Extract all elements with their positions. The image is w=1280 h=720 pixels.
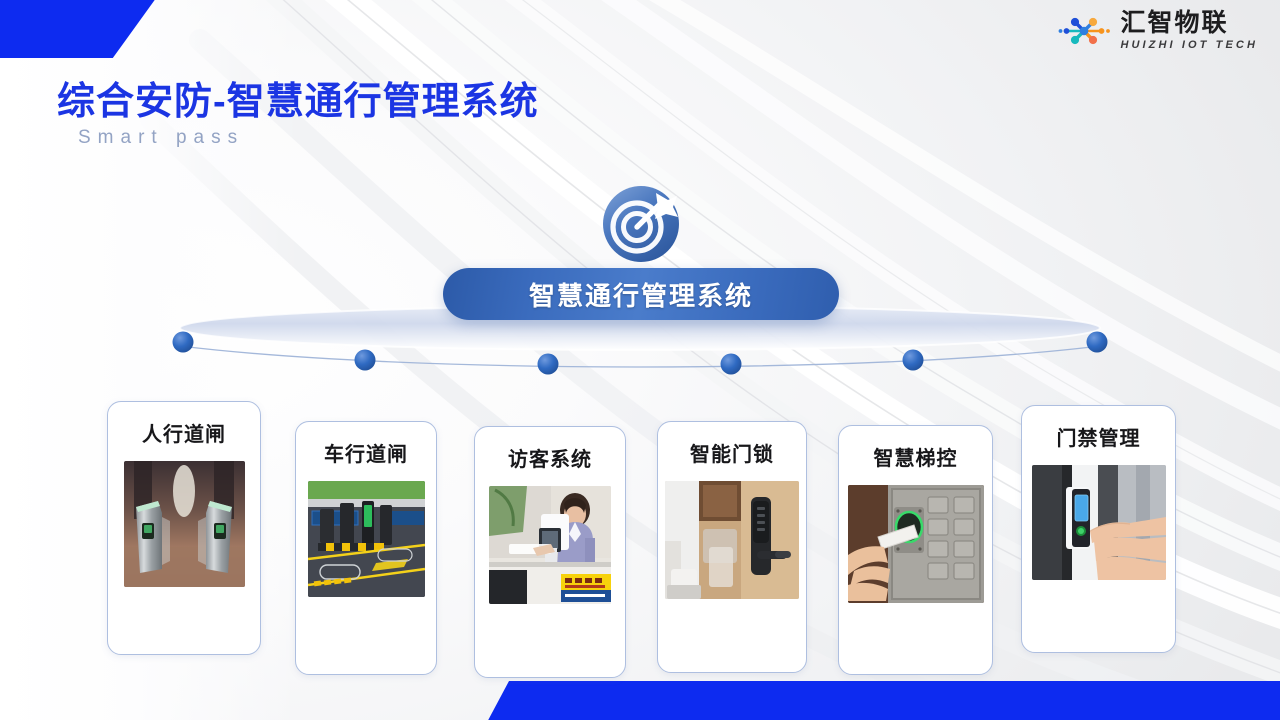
visitor-reception-desk-photo [489,486,611,604]
access-control-fingerprint-photo [1032,465,1166,580]
elevator-card-reader-photo [848,485,984,603]
feature-card-vehicle-gate[interactable]: 车行道闸 [295,421,437,675]
vehicle-barrier-gate-photo [308,481,425,597]
feature-card-title: 智慧梯控 [874,442,958,471]
feature-card-row: 人行道闸 [0,0,1280,720]
slide-canvas: 综合安防-智慧通行管理系统 Smart pass 汇智物联 HUI [0,0,1280,720]
feature-card-title: 车行道闸 [324,438,408,467]
feature-card-title: 门禁管理 [1057,422,1141,451]
pedestrian-speed-gate-photo [124,461,245,587]
feature-card-visitor-system[interactable]: 访客系统 [474,426,626,678]
feature-card-title: 智能门锁 [690,438,774,467]
feature-card-title: 访客系统 [508,443,592,472]
feature-card-smart-lock[interactable]: 智能门锁 [657,421,807,673]
smart-door-lock-photo [665,481,799,599]
hero-banner-label: 智慧通行管理系统 [529,276,753,313]
feature-card-access-control[interactable]: 门禁管理 [1021,405,1176,653]
feature-card-pedestrian-gate[interactable]: 人行道闸 [107,401,261,655]
hero-banner[interactable]: 智慧通行管理系统 [443,268,839,320]
feature-card-elevator-control[interactable]: 智慧梯控 [838,425,993,675]
feature-card-title: 人行道闸 [142,418,226,447]
